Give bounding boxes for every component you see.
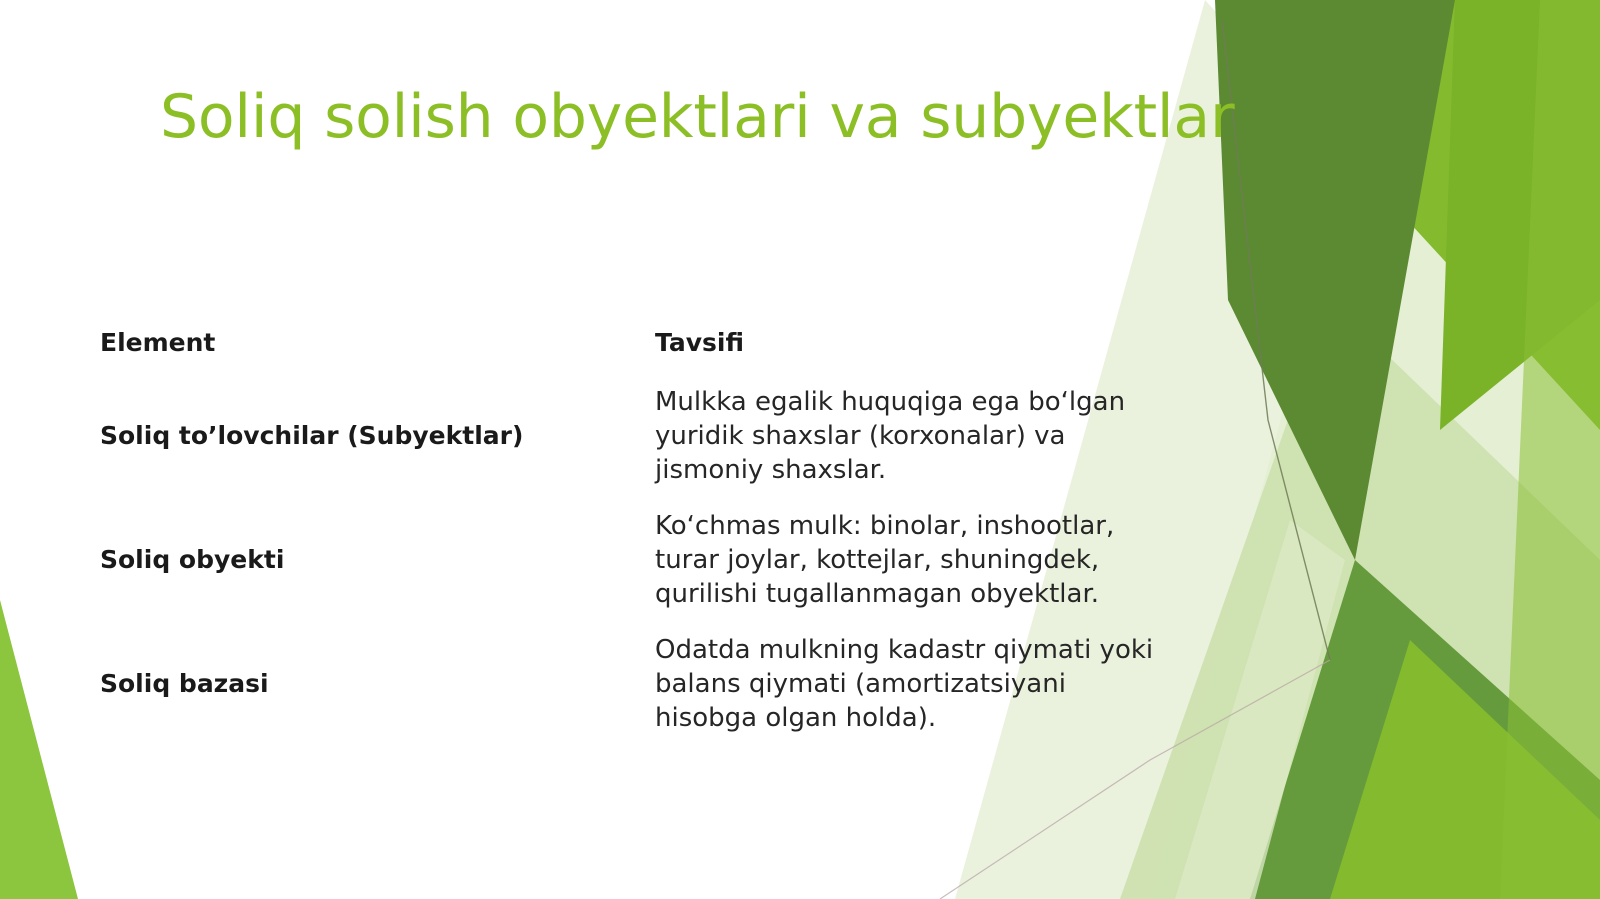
table-row: Soliq obyekti Ko‘chmas mulk: binolar, in… — [100, 498, 1160, 622]
table-header-cell-description: Tavsifi — [655, 328, 1160, 358]
shape-dark-green-lower — [1250, 560, 1600, 899]
slide-canvas: Soliq solish obyektlari va subyektlar El… — [0, 0, 1600, 899]
hairline-diagonal-upper — [1222, 20, 1330, 660]
shape-pale-wash — [1175, 520, 1345, 899]
table-header-row: Element Tavsifi — [100, 312, 1160, 374]
shape-dark-olive-band — [1215, 0, 1455, 560]
table-row: Soliq to’lovchilar (Subyektlar) Mulkka e… — [100, 374, 1160, 498]
table-cell-element: Soliq obyekti — [100, 544, 655, 575]
shape-bottom-left-wedge — [0, 600, 78, 899]
row-description-text: Mulkka egalik huquqiga ega bo‘lgan yurid… — [655, 385, 1160, 488]
row-element-label: Soliq to’lovchilar (Subyektlar) — [100, 420, 643, 451]
row-element-label: Soliq obyekti — [100, 544, 643, 575]
table-row: Soliq bazasi Odatda mulkning kadastr qiy… — [100, 622, 1160, 746]
slide-title: Soliq solish obyektlari va subyektlar — [160, 84, 1160, 151]
table-cell-element: Soliq bazasi — [100, 668, 655, 699]
table-header-cell-element: Element — [100, 328, 655, 358]
table-cell-description: Odatda mulkning kadastr qiymati yoki bal… — [655, 633, 1160, 736]
table-cell-description: Ko‘chmas mulk: binolar, inshootlar, tura… — [655, 509, 1160, 612]
shape-bright-green-bottom — [1330, 640, 1600, 899]
shape-pale-mid-triangle — [1120, 300, 1600, 899]
shape-right-edge-sliver — [1500, 0, 1600, 899]
shape-mid-green-band — [1440, 0, 1600, 430]
column-header-element: Element — [100, 328, 643, 358]
row-description-text: Odatda mulkning kadastr qiymati yoki bal… — [655, 633, 1160, 736]
table-cell-description: Mulkka egalik huquqiga ega bo‘lgan yurid… — [655, 385, 1160, 488]
row-element-label: Soliq bazasi — [100, 668, 643, 699]
row-description-text: Ko‘chmas mulk: binolar, inshootlar, tura… — [655, 509, 1160, 612]
table-cell-element: Soliq to’lovchilar (Subyektlar) — [100, 420, 655, 451]
column-header-description: Tavsifi — [655, 328, 1160, 358]
content-table: Element Tavsifi Soliq to’lovchilar (Suby… — [100, 312, 1160, 746]
